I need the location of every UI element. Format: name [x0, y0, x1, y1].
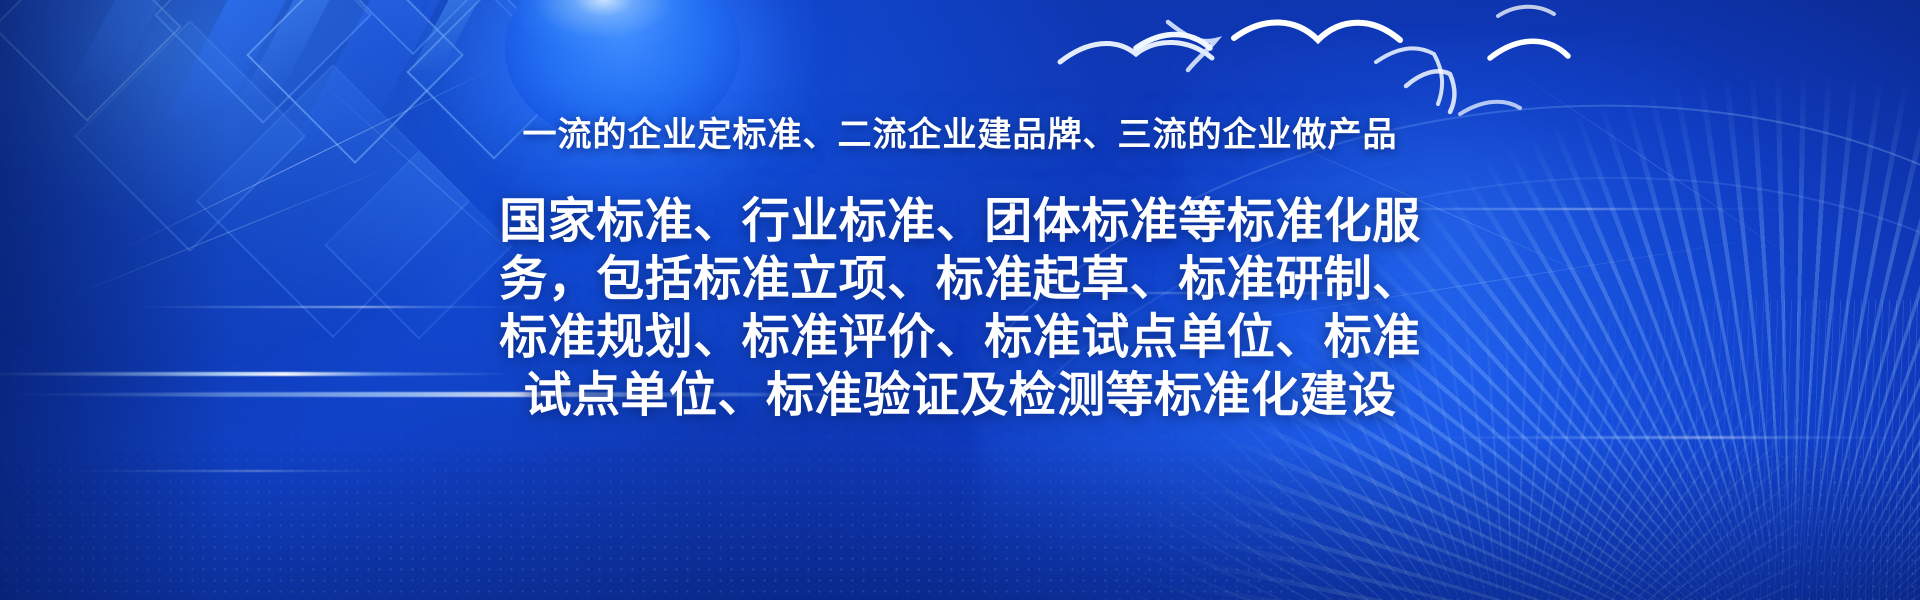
body-line-4: 试点单位、标准验证及检测等标准化建设 — [443, 366, 1478, 424]
body-line-3: 标准规划、标准评价、标准试点单位、标准 — [443, 308, 1478, 366]
promotional-banner: 一流的企业定标准、二流企业建品牌、三流的企业做产品 国家标准、行业标准、团体标准… — [0, 0, 1920, 600]
banner-body: 国家标准、行业标准、团体标准等标准化服 务，包括标准立项、标准起草、标准研制、 … — [443, 192, 1478, 424]
banner-headline: 一流的企业定标准、二流企业建品牌、三流的企业做产品 — [523, 118, 1398, 152]
body-line-2: 务，包括标准立项、标准起草、标准研制、 — [443, 250, 1478, 308]
banner-content: 一流的企业定标准、二流企业建品牌、三流的企业做产品 国家标准、行业标准、团体标准… — [0, 0, 1920, 600]
body-line-1: 国家标准、行业标准、团体标准等标准化服 — [443, 192, 1478, 250]
